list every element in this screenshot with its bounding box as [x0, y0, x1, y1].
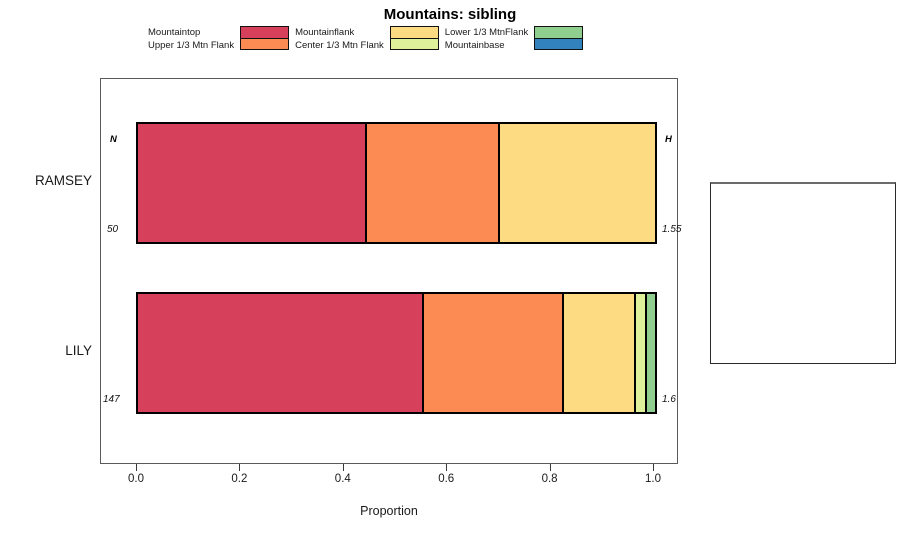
legend-swatch-mountainbase: [535, 38, 582, 49]
legend-labels-2: Mountainflank Center 1/3 Mtn Flank: [295, 26, 384, 52]
legend-column-2: Mountainflank Center 1/3 Mtn Flank: [295, 26, 439, 52]
stacked-bar-ramsey[interactable]: [136, 122, 657, 244]
x-axis-tick: [446, 464, 447, 471]
bar-segment[interactable]: [636, 294, 647, 412]
legend-swatch-mountaintop: [241, 27, 288, 38]
legend-labels-1: Mountaintop Upper 1/3 Mtn Flank: [148, 26, 234, 52]
page-title: Mountains: sibling: [0, 6, 900, 23]
annotation-h-header: H: [665, 134, 672, 145]
x-axis-tick-label: 0.2: [231, 473, 247, 485]
chart-legend: Mountaintop Upper 1/3 Mtn Flank Mountain…: [148, 26, 648, 52]
x-axis-tick: [136, 464, 137, 471]
x-axis-tick: [653, 464, 654, 471]
x-axis-tick-label: 0.6: [438, 473, 454, 485]
annotation-n-value: 50: [107, 224, 118, 235]
legend-label-mountainbase: Mountainbase: [445, 39, 528, 52]
legend-swatch-mountainflank: [391, 27, 438, 38]
legend-swatch-upper-1-3-mtn-flank: [241, 38, 288, 49]
bar-segment[interactable]: [424, 294, 564, 412]
x-axis: 0.00.20.40.60.81.0: [100, 464, 678, 504]
x-axis-title: Proportion: [100, 504, 678, 518]
annotation-n-value: 147: [103, 394, 120, 405]
legend-swatches-3: [534, 26, 583, 50]
legend-label-mountainflank: Mountainflank: [295, 26, 384, 39]
annotation-h-value: 1.6: [662, 394, 676, 405]
x-axis-tick: [239, 464, 240, 471]
annotation-h-value: 1.55: [662, 224, 681, 235]
legend-label-upper-1-3-mtn-flank: Upper 1/3 Mtn Flank: [148, 39, 234, 52]
legend-label-lower-1-3-mtnflank: Lower 1/3 MtnFlank: [445, 26, 528, 39]
x-axis-tick-label: 0.4: [335, 473, 351, 485]
legend-labels-3: Lower 1/3 MtnFlank Mountainbase: [445, 26, 528, 52]
y-axis-label-ramsey: RAMSEY: [0, 173, 92, 188]
annotation-n-header: N: [110, 134, 117, 145]
side-panel: [710, 182, 896, 364]
x-axis-tick-label: 0.0: [128, 473, 144, 485]
legend-column-1: Mountaintop Upper 1/3 Mtn Flank: [148, 26, 289, 52]
bar-segment[interactable]: [138, 294, 424, 412]
legend-column-3: Lower 1/3 MtnFlank Mountainbase: [445, 26, 583, 52]
legend-label-mountaintop: Mountaintop: [148, 26, 234, 39]
bar-segment[interactable]: [500, 124, 655, 242]
x-axis-tick-label: 0.8: [542, 473, 558, 485]
legend-swatches-2: [390, 26, 439, 50]
bar-segment[interactable]: [647, 294, 655, 412]
bar-segment[interactable]: [564, 294, 636, 412]
x-axis-tick-label: 1.0: [645, 473, 661, 485]
x-axis-tick: [550, 464, 551, 471]
bar-segment[interactable]: [138, 124, 367, 242]
stacked-bar-lily[interactable]: [136, 292, 657, 414]
legend-swatch-center-1-3-mtn-flank: [391, 38, 438, 49]
legend-swatches-1: [240, 26, 289, 50]
legend-label-center-1-3-mtn-flank: Center 1/3 Mtn Flank: [295, 39, 384, 52]
x-axis-tick: [343, 464, 344, 471]
bar-segment[interactable]: [367, 124, 500, 242]
legend-swatch-lower-1-3-mtnflank: [535, 27, 582, 38]
y-axis-label-lily: LILY: [0, 343, 92, 358]
